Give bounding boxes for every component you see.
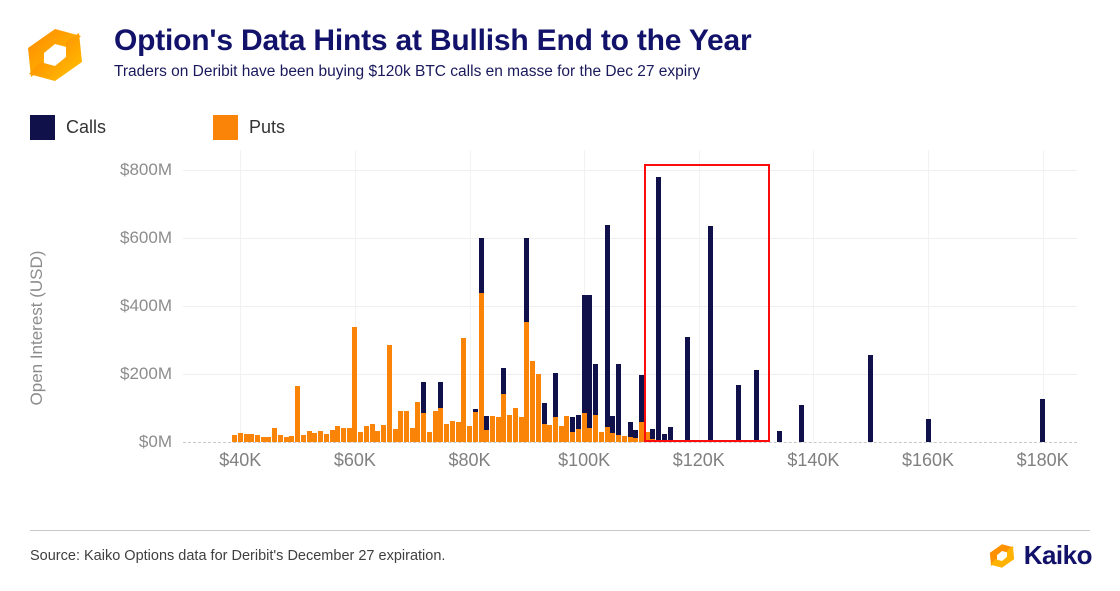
legend-swatch-puts — [213, 115, 238, 140]
bar-segment-puts — [616, 435, 621, 442]
bar-group[interactable] — [496, 417, 501, 442]
bar-segment-puts — [398, 411, 403, 442]
bar-group[interactable] — [318, 431, 323, 442]
bar-segment-puts — [479, 293, 484, 442]
legend-label-calls: Calls — [66, 117, 106, 138]
bar-group[interactable] — [616, 364, 621, 442]
bar-segment-puts — [404, 411, 409, 442]
bar-group[interactable] — [633, 430, 638, 442]
bar-segment-calls — [708, 226, 713, 441]
bar-segment-calls — [542, 403, 547, 424]
bar-segment-calls — [610, 416, 615, 434]
legend-label-puts: Puts — [249, 117, 285, 138]
bar-group[interactable] — [284, 437, 289, 442]
bar-group[interactable] — [421, 382, 426, 442]
bar-segment-puts — [662, 440, 667, 442]
bar-segment-puts — [352, 327, 357, 442]
legend-item-puts[interactable]: Puts — [213, 115, 285, 140]
bar-segment-puts — [421, 413, 426, 442]
bar-segment-puts — [496, 417, 501, 442]
bar-group[interactable] — [507, 415, 512, 442]
bar-segment-puts — [696, 441, 701, 442]
x-tick-label-3: $100K — [558, 450, 610, 471]
bar-segment-puts — [266, 437, 271, 442]
bar-segment-puts — [484, 430, 489, 442]
bar-group[interactable] — [266, 437, 271, 442]
bar-segment-puts — [335, 426, 340, 442]
bar-group[interactable] — [748, 441, 753, 442]
bar-group[interactable] — [639, 375, 644, 442]
bar-segment-puts — [381, 425, 386, 442]
bar-segment-puts — [312, 433, 317, 443]
bar-segment-puts — [456, 422, 461, 442]
y-tick-label-1: $200M — [80, 364, 172, 384]
bar-group[interactable] — [1040, 399, 1045, 442]
kaiko-logo-icon — [988, 542, 1016, 570]
bar-segment-puts — [685, 441, 690, 442]
bar-group[interactable] — [679, 440, 684, 442]
bar-group[interactable] — [427, 432, 432, 442]
bar-segment-puts — [645, 432, 650, 442]
bar-segment-puts — [415, 402, 420, 442]
bar-group[interactable] — [547, 425, 552, 442]
bar-group[interactable] — [553, 373, 558, 442]
bar-group[interactable] — [398, 411, 403, 442]
bar-group[interactable] — [725, 441, 730, 442]
bar-group[interactable] — [736, 385, 741, 442]
x-tick-label-2: $80K — [449, 450, 491, 471]
bar-segment-puts — [375, 431, 380, 442]
bar-group[interactable] — [536, 374, 541, 442]
bar-segment-puts — [524, 322, 529, 442]
bar-segment-puts — [593, 415, 598, 442]
bar-group[interactable] — [622, 436, 627, 442]
bar-segment-puts — [719, 441, 724, 442]
bar-segment-puts — [713, 441, 718, 442]
chart-legend: Calls Puts — [30, 112, 285, 142]
bar-group[interactable] — [352, 327, 357, 442]
bar-segment-puts — [438, 408, 443, 442]
bar-segment-puts — [742, 441, 747, 442]
bar-segment-puts — [530, 361, 535, 442]
bar-group[interactable] — [312, 433, 317, 443]
bar-segment-puts — [736, 441, 741, 442]
legend-item-calls[interactable]: Calls — [30, 115, 106, 140]
bar-segment-calls — [668, 427, 673, 441]
page-title: Option's Data Hints at Bullish End to th… — [114, 24, 1074, 58]
legend-swatch-calls — [30, 115, 55, 140]
bar-group[interactable] — [461, 338, 466, 442]
bar-group[interactable] — [467, 426, 472, 442]
bar-group[interactable] — [347, 428, 352, 442]
y-tick-label-3: $600M — [80, 228, 172, 248]
bar-segment-calls — [593, 364, 598, 415]
bar-segment-calls — [479, 238, 484, 292]
bar-group[interactable] — [307, 431, 312, 442]
bar-group[interactable] — [777, 431, 782, 442]
bar-segment-calls — [570, 417, 575, 432]
bar-segment-puts — [605, 427, 610, 442]
bar-segment-puts — [255, 435, 260, 442]
bar-group[interactable] — [559, 426, 564, 442]
bar-segment-calls — [650, 429, 655, 439]
bar-segment-puts — [330, 430, 335, 442]
bar-group[interactable] — [582, 295, 587, 442]
bar-segment-calls — [438, 382, 443, 408]
bar-group[interactable] — [530, 361, 535, 442]
bar-group[interactable] — [272, 428, 277, 442]
bar-group[interactable] — [691, 441, 696, 442]
bar-group[interactable] — [261, 437, 266, 442]
bar-group[interactable] — [490, 416, 495, 442]
bar-segment-puts — [318, 431, 323, 442]
bar-group[interactable] — [650, 429, 655, 442]
bar-segment-calls — [926, 419, 931, 442]
bar-segment-puts — [501, 394, 506, 442]
x-tick-label-4: $120K — [673, 450, 725, 471]
bar-group[interactable] — [370, 424, 375, 442]
bar-group[interactable] — [708, 226, 713, 442]
bar-segment-calls — [421, 382, 426, 413]
x-tick-label-1: $60K — [334, 450, 376, 471]
bar-segment-puts — [272, 428, 277, 442]
x-tick-label-7: $180K — [1017, 450, 1069, 471]
bar-group[interactable] — [731, 441, 736, 442]
bar-group[interactable] — [278, 435, 283, 442]
chart-plot-area: Open Interest (USD) $0M$200M$400M$600M$8… — [0, 150, 1120, 495]
bar-group[interactable] — [599, 432, 604, 442]
bar-group[interactable] — [289, 436, 294, 442]
bar-segment-puts — [301, 435, 306, 442]
bar-group[interactable] — [244, 434, 249, 442]
bar-group[interactable] — [364, 426, 369, 442]
bar-segment-puts — [650, 439, 655, 442]
bar-group[interactable] — [524, 238, 529, 442]
bar-group[interactable] — [570, 417, 575, 442]
bar-segment-puts — [708, 441, 713, 442]
bar-segment-calls — [754, 370, 759, 441]
bar-segment-puts — [679, 441, 684, 442]
bar-group[interactable] — [232, 435, 237, 442]
bar-segment-calls — [685, 337, 690, 441]
bar-segment-puts — [427, 432, 432, 442]
bar-segment-puts — [387, 345, 392, 442]
bar-segment-puts — [564, 416, 569, 442]
bar-segment-puts — [639, 422, 644, 442]
bar-segment-puts — [249, 434, 254, 442]
bar-group[interactable] — [438, 382, 443, 442]
bar-segment-puts — [633, 438, 638, 442]
bar-segment-puts — [622, 436, 627, 442]
bar-group[interactable] — [341, 428, 346, 442]
bar-segment-puts — [691, 441, 696, 442]
bar-segment-puts — [542, 424, 547, 442]
bar-segment-puts — [765, 441, 770, 442]
y-axis-title: Open Interest (USD) — [27, 203, 47, 453]
bar-group[interactable] — [673, 440, 678, 442]
bar-segment-calls — [656, 177, 661, 440]
bar-group[interactable] — [249, 434, 254, 442]
bar-group[interactable] — [656, 177, 661, 442]
bar-group[interactable] — [404, 411, 409, 442]
bar-segment-puts — [467, 426, 472, 442]
x-tick-label-6: $160K — [902, 450, 954, 471]
bar-segment-puts — [347, 428, 352, 442]
bar-group[interactable] — [301, 435, 306, 442]
bar-group[interactable] — [335, 426, 340, 442]
bar-segment-calls — [736, 385, 741, 441]
bar-group[interactable] — [479, 238, 484, 442]
bar-group[interactable] — [330, 430, 335, 442]
bar-segment-puts — [547, 425, 552, 442]
bar-group[interactable] — [519, 417, 524, 442]
bar-segment-puts — [393, 429, 398, 442]
bar-group[interactable] — [593, 364, 598, 442]
bar-segment-puts — [628, 437, 633, 442]
bar-segment-calls — [868, 355, 873, 442]
bar-group[interactable] — [473, 409, 478, 442]
bar-segment-puts — [284, 437, 289, 442]
bar-segment-puts — [370, 424, 375, 442]
bar-segment-calls — [777, 431, 782, 442]
bar-group[interactable] — [295, 386, 300, 442]
bar-segment-calls — [501, 368, 506, 394]
footer-brand: Kaiko — [988, 540, 1092, 571]
gridline-y-0 — [183, 442, 1077, 443]
bar-segment-puts — [244, 434, 249, 442]
bar-segment-puts — [536, 374, 541, 442]
bar-group[interactable] — [393, 429, 398, 442]
bar-group[interactable] — [444, 424, 449, 442]
page-subtitle: Traders on Deribit have been buying $120… — [114, 63, 1074, 82]
bar-group[interactable] — [381, 425, 386, 442]
bar-segment-puts — [307, 431, 312, 442]
bar-segment-calls — [639, 375, 644, 422]
bar-group[interactable] — [587, 295, 592, 442]
bar-group[interactable] — [576, 415, 581, 442]
bar-group[interactable] — [668, 427, 673, 442]
bar-segment-puts — [759, 441, 764, 442]
bar-segment-puts — [278, 435, 283, 442]
bar-group[interactable] — [415, 402, 420, 442]
bar-segment-puts — [450, 421, 455, 442]
bar-segment-puts — [461, 338, 466, 442]
bar-group[interactable] — [564, 416, 569, 442]
bar-segment-calls — [616, 364, 621, 435]
bar-group[interactable] — [799, 405, 804, 442]
bar-group[interactable] — [926, 419, 931, 442]
bar-group[interactable] — [868, 355, 873, 442]
bar-group[interactable] — [387, 345, 392, 442]
bar-segment-puts — [490, 416, 495, 442]
bar-segment-puts — [444, 424, 449, 442]
y-tick-label-4: $800M — [80, 160, 172, 180]
bar-group[interactable] — [501, 368, 506, 442]
x-tick-label-0: $40K — [219, 450, 261, 471]
bar-segment-puts — [358, 432, 363, 442]
bar-group[interactable] — [719, 441, 724, 442]
y-axis-tick-labels: $0M$200M$400M$600M$800M — [80, 150, 172, 495]
bar-group[interactable] — [255, 435, 260, 442]
bar-segment-puts — [656, 440, 661, 442]
bar-segment-calls — [1040, 399, 1045, 442]
bar-segment-calls — [605, 225, 610, 427]
bar-group[interactable] — [456, 422, 461, 442]
bar-segment-puts — [754, 441, 759, 442]
chart-bars — [183, 150, 1077, 442]
bar-group[interactable] — [696, 441, 701, 442]
bar-segment-calls — [484, 416, 489, 430]
y-tick-label-0: $0M — [80, 432, 172, 452]
bar-segment-calls — [524, 238, 529, 322]
bar-segment-puts — [519, 417, 524, 442]
bar-segment-calls — [587, 295, 592, 427]
bar-group[interactable] — [628, 422, 633, 442]
footer-source-text: Source: Kaiko Options data for Deribit's… — [30, 548, 445, 564]
bar-segment-puts — [702, 441, 707, 442]
bar-segment-puts — [725, 441, 730, 442]
bar-segment-puts — [576, 429, 581, 442]
bar-segment-puts — [410, 428, 415, 442]
bar-segment-puts — [341, 428, 346, 442]
bar-segment-puts — [748, 441, 753, 442]
bar-segment-puts — [289, 436, 294, 442]
bar-segment-puts — [559, 426, 564, 442]
bar-segment-puts — [610, 433, 615, 442]
bar-segment-puts — [553, 417, 558, 442]
bar-group[interactable] — [450, 421, 455, 442]
bar-group[interactable] — [759, 441, 764, 442]
kaiko-logo-icon — [24, 26, 86, 84]
bar-group[interactable] — [375, 431, 380, 442]
bar-group[interactable] — [742, 441, 747, 442]
bar-segment-puts — [238, 433, 243, 443]
bar-group[interactable] — [685, 337, 690, 442]
bar-group[interactable] — [238, 433, 243, 443]
bar-group[interactable] — [358, 432, 363, 442]
bar-segment-puts — [324, 434, 329, 442]
chart-header: Option's Data Hints at Bullish End to th… — [0, 0, 1120, 100]
bar-group[interactable] — [610, 416, 615, 442]
bar-segment-calls — [553, 373, 558, 417]
bar-segment-puts — [295, 386, 300, 442]
bar-group[interactable] — [484, 416, 489, 442]
bar-segment-puts — [513, 408, 518, 442]
bar-segment-puts — [364, 426, 369, 442]
bar-segment-puts — [599, 432, 604, 442]
bar-segment-calls — [582, 295, 587, 413]
footer-divider — [30, 530, 1090, 531]
bar-group[interactable] — [765, 441, 770, 442]
bar-segment-puts — [232, 435, 237, 442]
bar-segment-puts — [582, 413, 587, 442]
bar-group[interactable] — [542, 403, 547, 442]
bar-group[interactable] — [605, 225, 610, 442]
bar-segment-calls — [799, 405, 804, 442]
bar-segment-puts — [570, 432, 575, 442]
footer-wordmark: Kaiko — [1024, 540, 1092, 571]
bar-segment-calls — [628, 422, 633, 436]
bar-segment-calls — [633, 430, 638, 438]
bar-group[interactable] — [324, 434, 329, 442]
x-axis-tick-labels: $40K$60K$80K$100K$120K$140K$160K$180K — [183, 450, 1077, 490]
x-tick-label-5: $140K — [787, 450, 839, 471]
bar-segment-puts — [731, 441, 736, 442]
bar-group[interactable] — [713, 441, 718, 442]
bar-segment-puts — [507, 415, 512, 442]
bar-segment-puts — [673, 441, 678, 442]
bar-segment-puts — [261, 437, 266, 442]
bar-segment-calls — [576, 415, 581, 429]
bar-group[interactable] — [702, 441, 707, 442]
title-block: Option's Data Hints at Bullish End to th… — [114, 24, 1074, 81]
bar-group[interactable] — [433, 411, 438, 442]
bar-segment-puts — [668, 441, 673, 442]
bar-group[interactable] — [645, 432, 650, 442]
bar-group[interactable] — [754, 370, 759, 442]
y-tick-label-2: $400M — [80, 296, 172, 316]
bar-segment-puts — [433, 411, 438, 442]
bar-group[interactable] — [513, 408, 518, 442]
bar-group[interactable] — [662, 434, 667, 442]
bar-segment-puts — [587, 428, 592, 442]
bar-segment-puts — [473, 412, 478, 442]
bar-group[interactable] — [410, 428, 415, 442]
